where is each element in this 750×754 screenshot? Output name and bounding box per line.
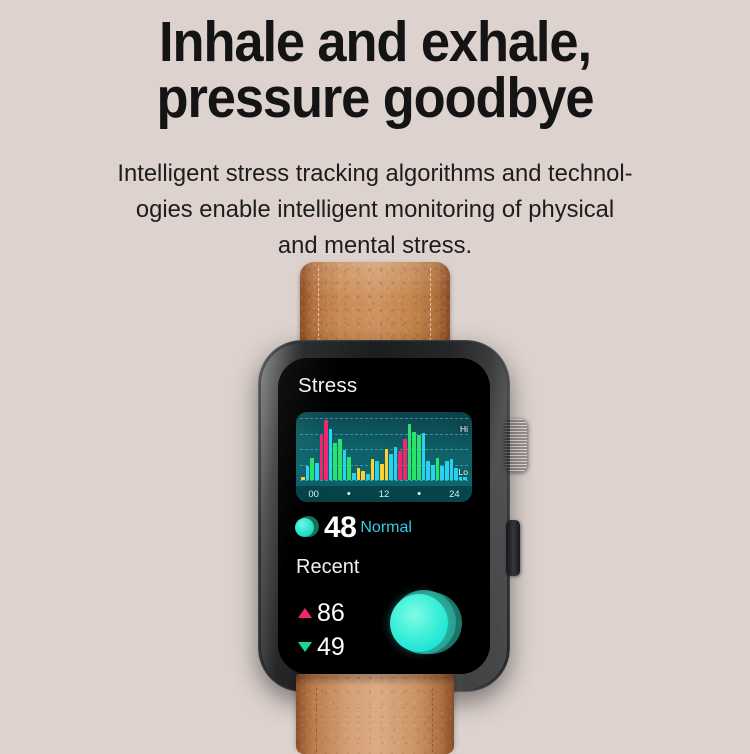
- chart-bar: [385, 449, 389, 480]
- chart-bar: [394, 447, 398, 480]
- page-subhead: Intelligent stress tracking algorithms a…: [84, 156, 666, 264]
- chart-bar: [431, 465, 435, 480]
- watch-screen[interactable]: Stress Hi Lo 00•12•24 48 Normal Recent: [278, 358, 490, 674]
- stress-state-label: Normal: [360, 515, 412, 541]
- chart-x-tick: •: [402, 490, 437, 499]
- recent-high-row: 86: [298, 596, 345, 630]
- chart-x-tick: 00: [296, 489, 331, 500]
- chart-bar: [333, 443, 337, 480]
- stress-dot-inner: [295, 518, 314, 537]
- chart-bar: [380, 464, 384, 480]
- arrow-up-icon: [298, 608, 312, 618]
- chart-x-tick: 12: [366, 489, 401, 500]
- chart-bar: [315, 463, 319, 480]
- chart-gridline: [300, 480, 468, 481]
- chart-bar: [389, 454, 393, 480]
- chart-bar: [352, 473, 356, 480]
- stress-level-dot-icon: [295, 516, 319, 540]
- chart-bar: [454, 468, 458, 480]
- chart-bar: [329, 429, 333, 480]
- chart-x-axis: 00•12•24: [296, 486, 472, 502]
- chart-bar: [463, 477, 467, 480]
- chart-bar: [450, 459, 454, 480]
- page-headline: Inhale and exhale, pressure goodbye: [30, 14, 720, 126]
- chart-bar: [403, 439, 407, 480]
- measure-button[interactable]: [390, 590, 462, 658]
- chart-x-tick: 24: [437, 489, 472, 500]
- chart-bar: [412, 432, 416, 480]
- chart-bar: [375, 461, 379, 480]
- chart-x-tick: •: [331, 490, 366, 499]
- stress-chart-panel[interactable]: Hi Lo 00•12•24: [296, 412, 472, 502]
- smartwatch-product-image: Stress Hi Lo 00•12•24 48 Normal Recent: [0, 262, 750, 750]
- recent-low-value: 49: [317, 635, 345, 660]
- chart-bar: [366, 474, 370, 480]
- side-button[interactable]: [506, 520, 520, 576]
- chart-bar: [310, 458, 314, 480]
- chart-bar: [347, 457, 351, 480]
- chart-bar: [320, 434, 324, 480]
- axis-label-hi: Hi: [460, 424, 468, 434]
- chart-bar: [422, 433, 426, 480]
- recent-stats-list: 86 49: [298, 596, 345, 664]
- stress-score-value: 48: [324, 513, 356, 543]
- chart-bar: [306, 466, 310, 480]
- chart-bar: [324, 420, 328, 480]
- chart-bar: [445, 461, 449, 480]
- watch-band-bottom: [296, 674, 454, 754]
- recent-section-heading: Recent: [296, 556, 359, 579]
- chart-bar: [338, 439, 342, 480]
- chart-bar: [417, 435, 421, 480]
- chart-bar: [357, 468, 361, 480]
- crown-dial[interactable]: [505, 419, 527, 472]
- recent-high-value: 86: [317, 601, 345, 626]
- axis-label-lo: Lo: [459, 467, 468, 477]
- chart-bar: [361, 471, 365, 480]
- arrow-down-icon: [298, 642, 312, 652]
- watch-case: Stress Hi Lo 00•12•24 48 Normal Recent: [258, 340, 510, 692]
- chart-bar: [408, 424, 412, 480]
- chart-bar: [440, 466, 444, 480]
- chart-bar: [459, 477, 463, 480]
- leather-grain-texture: [296, 674, 454, 754]
- chart-bar: [343, 450, 347, 480]
- measure-button-core: [390, 594, 448, 652]
- chart-bar: [301, 477, 305, 480]
- screen-title: Stress: [298, 374, 357, 398]
- chart-bar: [436, 458, 440, 480]
- chart-bar: [398, 451, 402, 480]
- chart-plot-area: [301, 418, 467, 480]
- chart-bar: [371, 459, 375, 480]
- recent-low-row: 49: [298, 630, 345, 664]
- current-stress-reading: 48 Normal: [295, 513, 412, 543]
- chart-bar: [426, 461, 430, 480]
